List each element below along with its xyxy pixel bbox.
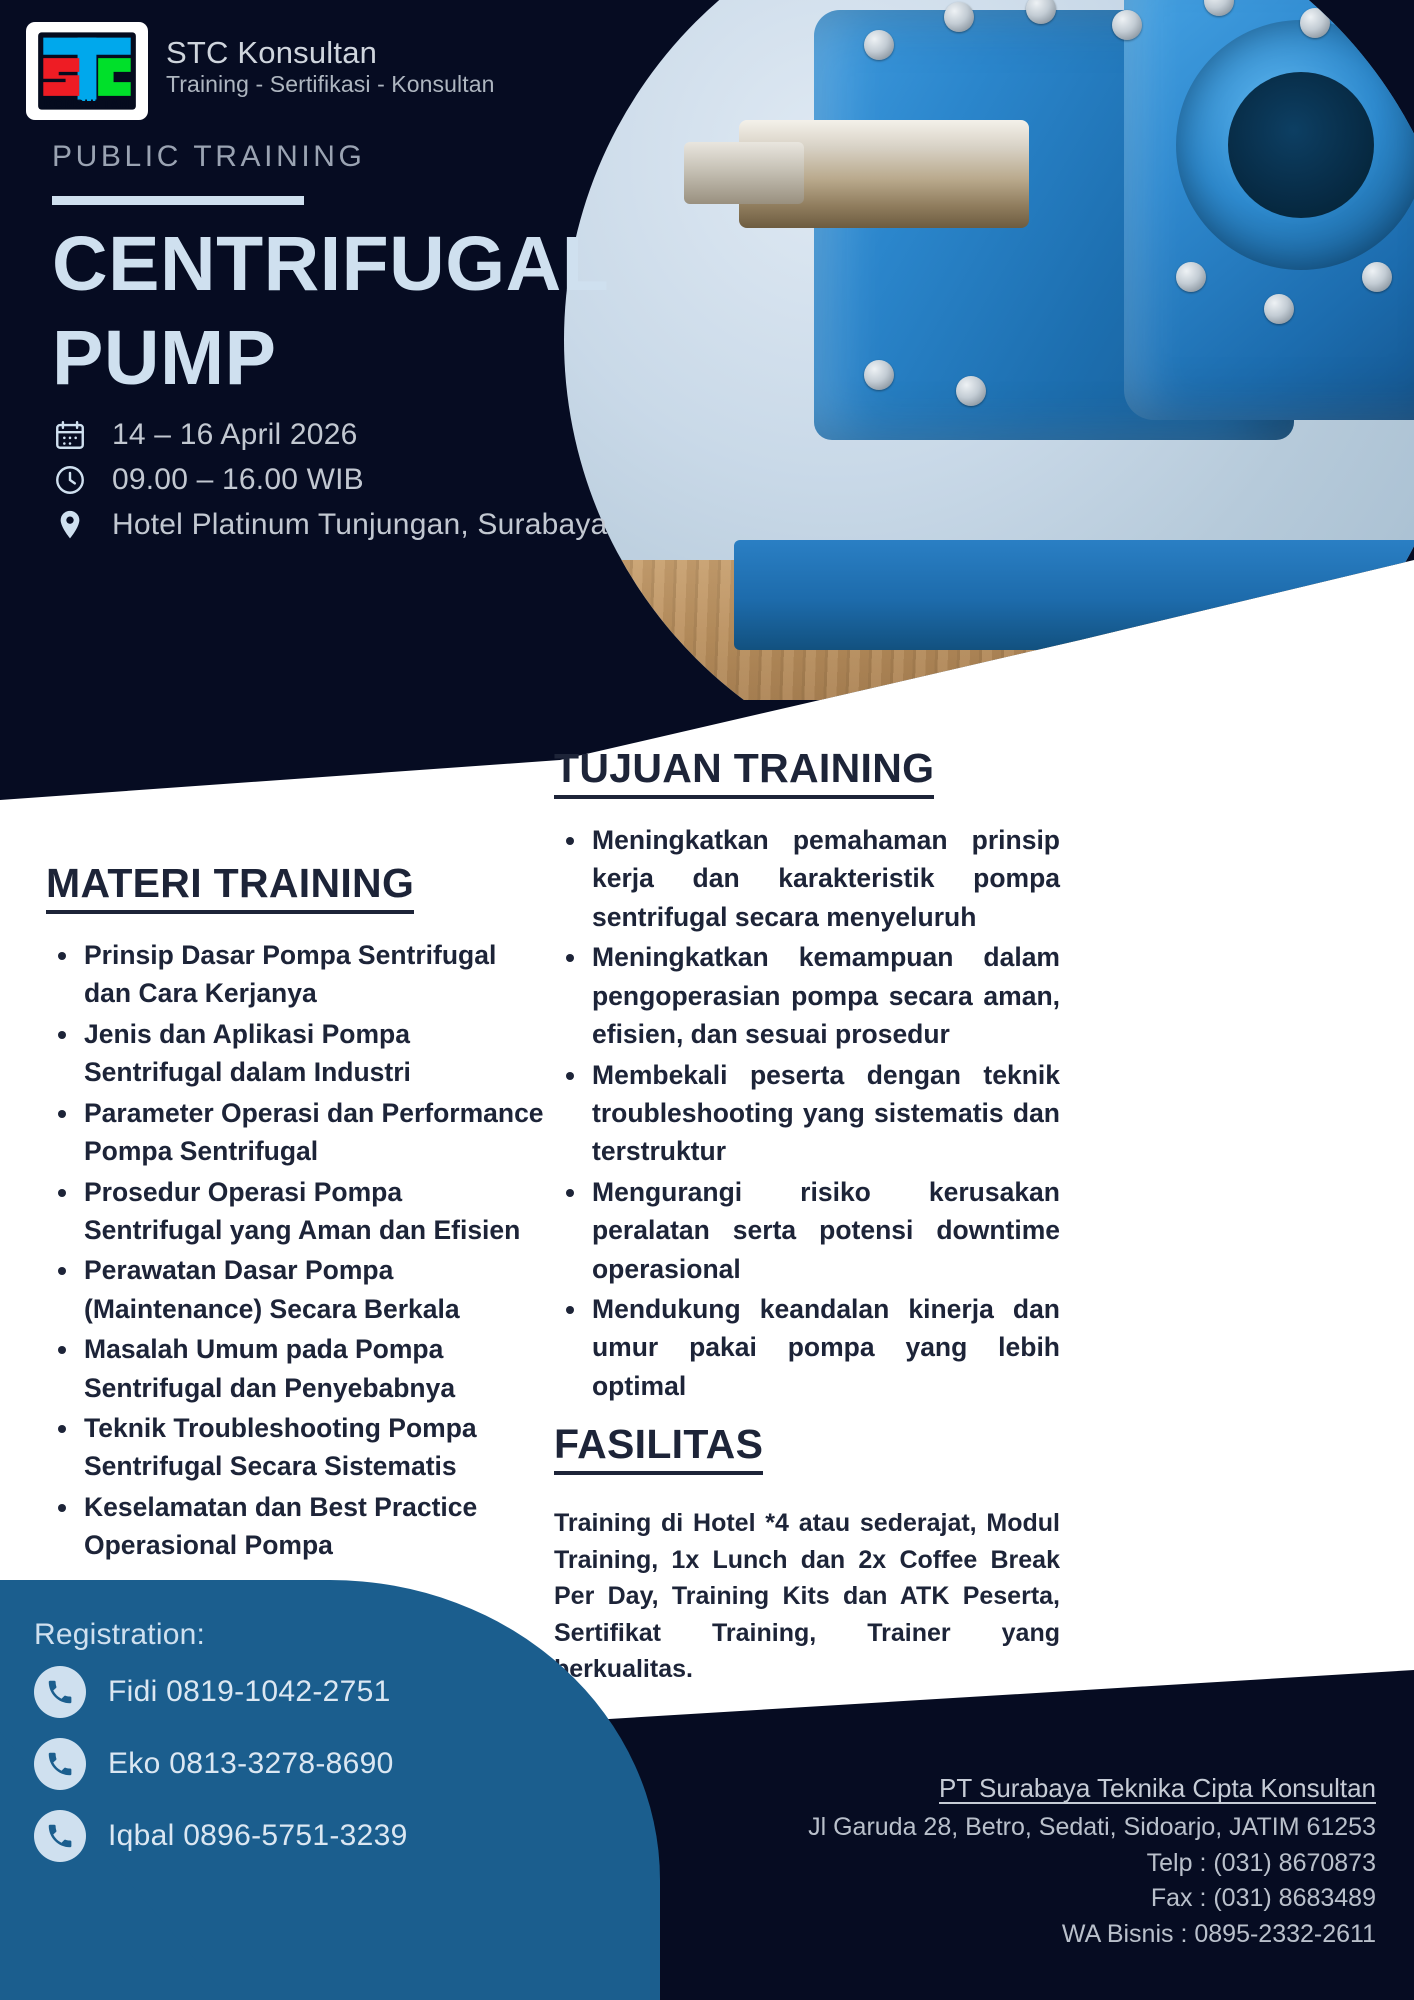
company-name: PT Surabaya Teknika Cipta Konsultan xyxy=(808,1773,1376,1804)
company-address: Jl Garuda 28, Betro, Sedati, Sidoarjo, J… xyxy=(808,1810,1376,1846)
list-item: Parameter Operasi dan Performance Pompa … xyxy=(46,1094,546,1171)
calendar-icon xyxy=(50,418,90,452)
list-item: Masalah Umum pada Pompa Sentrifugal dan … xyxy=(46,1330,546,1407)
company-telp: Telp : (031) 8670873 xyxy=(808,1846,1376,1882)
company-info: PT Surabaya Teknika Cipta Konsultan Jl G… xyxy=(808,1773,1376,1952)
event-location-row: Hotel Platinum Tunjungan, Surabaya xyxy=(50,502,607,547)
clock-icon xyxy=(50,463,90,497)
list-item: Mendukung keandalan kinerja dan umur pak… xyxy=(554,1290,1060,1405)
list-item: Keselamatan dan Best Practice Operasiona… xyxy=(46,1488,546,1565)
bolt-icon xyxy=(1176,262,1206,292)
list-item: Prinsip Dasar Pompa Sentrifugal dan Cara… xyxy=(46,936,546,1013)
title-line-2: PUMP xyxy=(52,312,672,406)
contact-row[interactable]: Iqbal 0896-5751-3239 xyxy=(34,1810,594,1862)
title-line-1: CENTRIFUGAL xyxy=(52,218,672,312)
svg-text:KONSULTAN: KONSULTAN xyxy=(44,97,130,112)
bolt-icon xyxy=(1264,294,1294,324)
company-wa: WA Bisnis : 0895-2332-2611 xyxy=(808,1917,1376,1953)
contact-row[interactable]: Eko 0813-3278-8690 xyxy=(34,1738,594,1790)
stc-logo-icon: KONSULTAN xyxy=(26,22,148,120)
event-info: 14 – 16 April 2026 09.00 – 16.00 WIB xyxy=(50,412,607,547)
list-item: Meningkatkan kemampuan dalam pengoperasi… xyxy=(554,938,1060,1053)
materi-heading: MATERI TRAINING xyxy=(46,860,414,914)
tujuan-list: Meningkatkan pemahaman prinsip kerja dan… xyxy=(554,821,1060,1405)
event-time-row: 09.00 – 16.00 WIB xyxy=(50,457,607,502)
list-item: Jenis dan Aplikasi Pompa Sentrifugal dal… xyxy=(46,1015,546,1092)
brand-tagline: Training - Sertifikasi - Konsultan xyxy=(166,71,495,99)
training-poster: KONSULTAN STC Konsultan Training - Serti… xyxy=(0,0,1414,2000)
kicker-label: PUBLIC TRAINING xyxy=(52,140,366,174)
contact-text: Fidi 0819-1042-2751 xyxy=(108,1675,391,1709)
event-date-row: 14 – 16 April 2026 xyxy=(50,412,607,457)
list-item: Mengurangi risiko kerusakan peralatan se… xyxy=(554,1173,1060,1288)
pump-flange xyxy=(1176,20,1414,270)
contact-row[interactable]: Fidi 0819-1042-2751 xyxy=(34,1666,594,1718)
contact-text: Eko 0813-3278-8690 xyxy=(108,1747,394,1781)
list-item: Prosedur Operasi Pompa Sentrifugal yang … xyxy=(46,1173,546,1250)
materi-section: MATERI TRAINING Prinsip Dasar Pompa Sent… xyxy=(46,860,546,1567)
bolt-icon xyxy=(1362,262,1392,292)
phone-icon xyxy=(34,1738,86,1790)
bolt-icon xyxy=(1300,8,1330,38)
bolt-icon xyxy=(1112,10,1142,40)
registration-block: Registration: Fidi 0819-1042-2751 Eko 08… xyxy=(34,1618,594,1882)
list-item: Meningkatkan pemahaman prinsip kerja dan… xyxy=(554,821,1060,936)
list-item: Membekali peserta dengan teknik troubles… xyxy=(554,1056,1060,1171)
bolt-icon xyxy=(864,30,894,60)
phone-icon xyxy=(34,1666,86,1718)
location-pin-icon xyxy=(50,508,90,542)
event-date: 14 – 16 April 2026 xyxy=(112,418,357,452)
event-time: 09.00 – 16.00 WIB xyxy=(112,463,364,497)
content-area: MATERI TRAINING Prinsip Dasar Pompa Sent… xyxy=(0,760,1414,1640)
phone-icon xyxy=(34,1810,86,1862)
hero-section: KONSULTAN STC Konsultan Training - Serti… xyxy=(0,0,1414,820)
event-location: Hotel Platinum Tunjungan, Surabaya xyxy=(112,508,607,542)
list-item: Teknik Troubleshooting Pompa Sentrifugal… xyxy=(46,1409,546,1486)
fasilitas-heading: FASILITAS xyxy=(554,1421,763,1475)
tujuan-heading: TUJUAN TRAINING xyxy=(554,745,934,799)
list-item: Perawatan Dasar Pompa (Maintenance) Seca… xyxy=(46,1251,546,1328)
brand-logo: KONSULTAN STC Konsultan Training - Serti… xyxy=(26,22,495,120)
contact-text: Iqbal 0896-5751-3239 xyxy=(108,1819,408,1853)
registration-title: Registration: xyxy=(34,1618,594,1652)
company-fax: Fax : (031) 8683489 xyxy=(808,1881,1376,1917)
fasilitas-body: Training di Hotel *4 atau sederajat, Mod… xyxy=(554,1505,1060,1688)
materi-list: Prinsip Dasar Pompa Sentrifugal dan Cara… xyxy=(46,936,546,1565)
tujuan-section: TUJUAN TRAINING Meningkatkan pemahaman p… xyxy=(554,745,1060,1688)
bolt-icon xyxy=(944,2,974,32)
title-rule xyxy=(52,196,304,205)
brand-name: STC Konsultan xyxy=(166,36,495,71)
page-title: CENTRIFUGAL PUMP xyxy=(52,218,672,406)
